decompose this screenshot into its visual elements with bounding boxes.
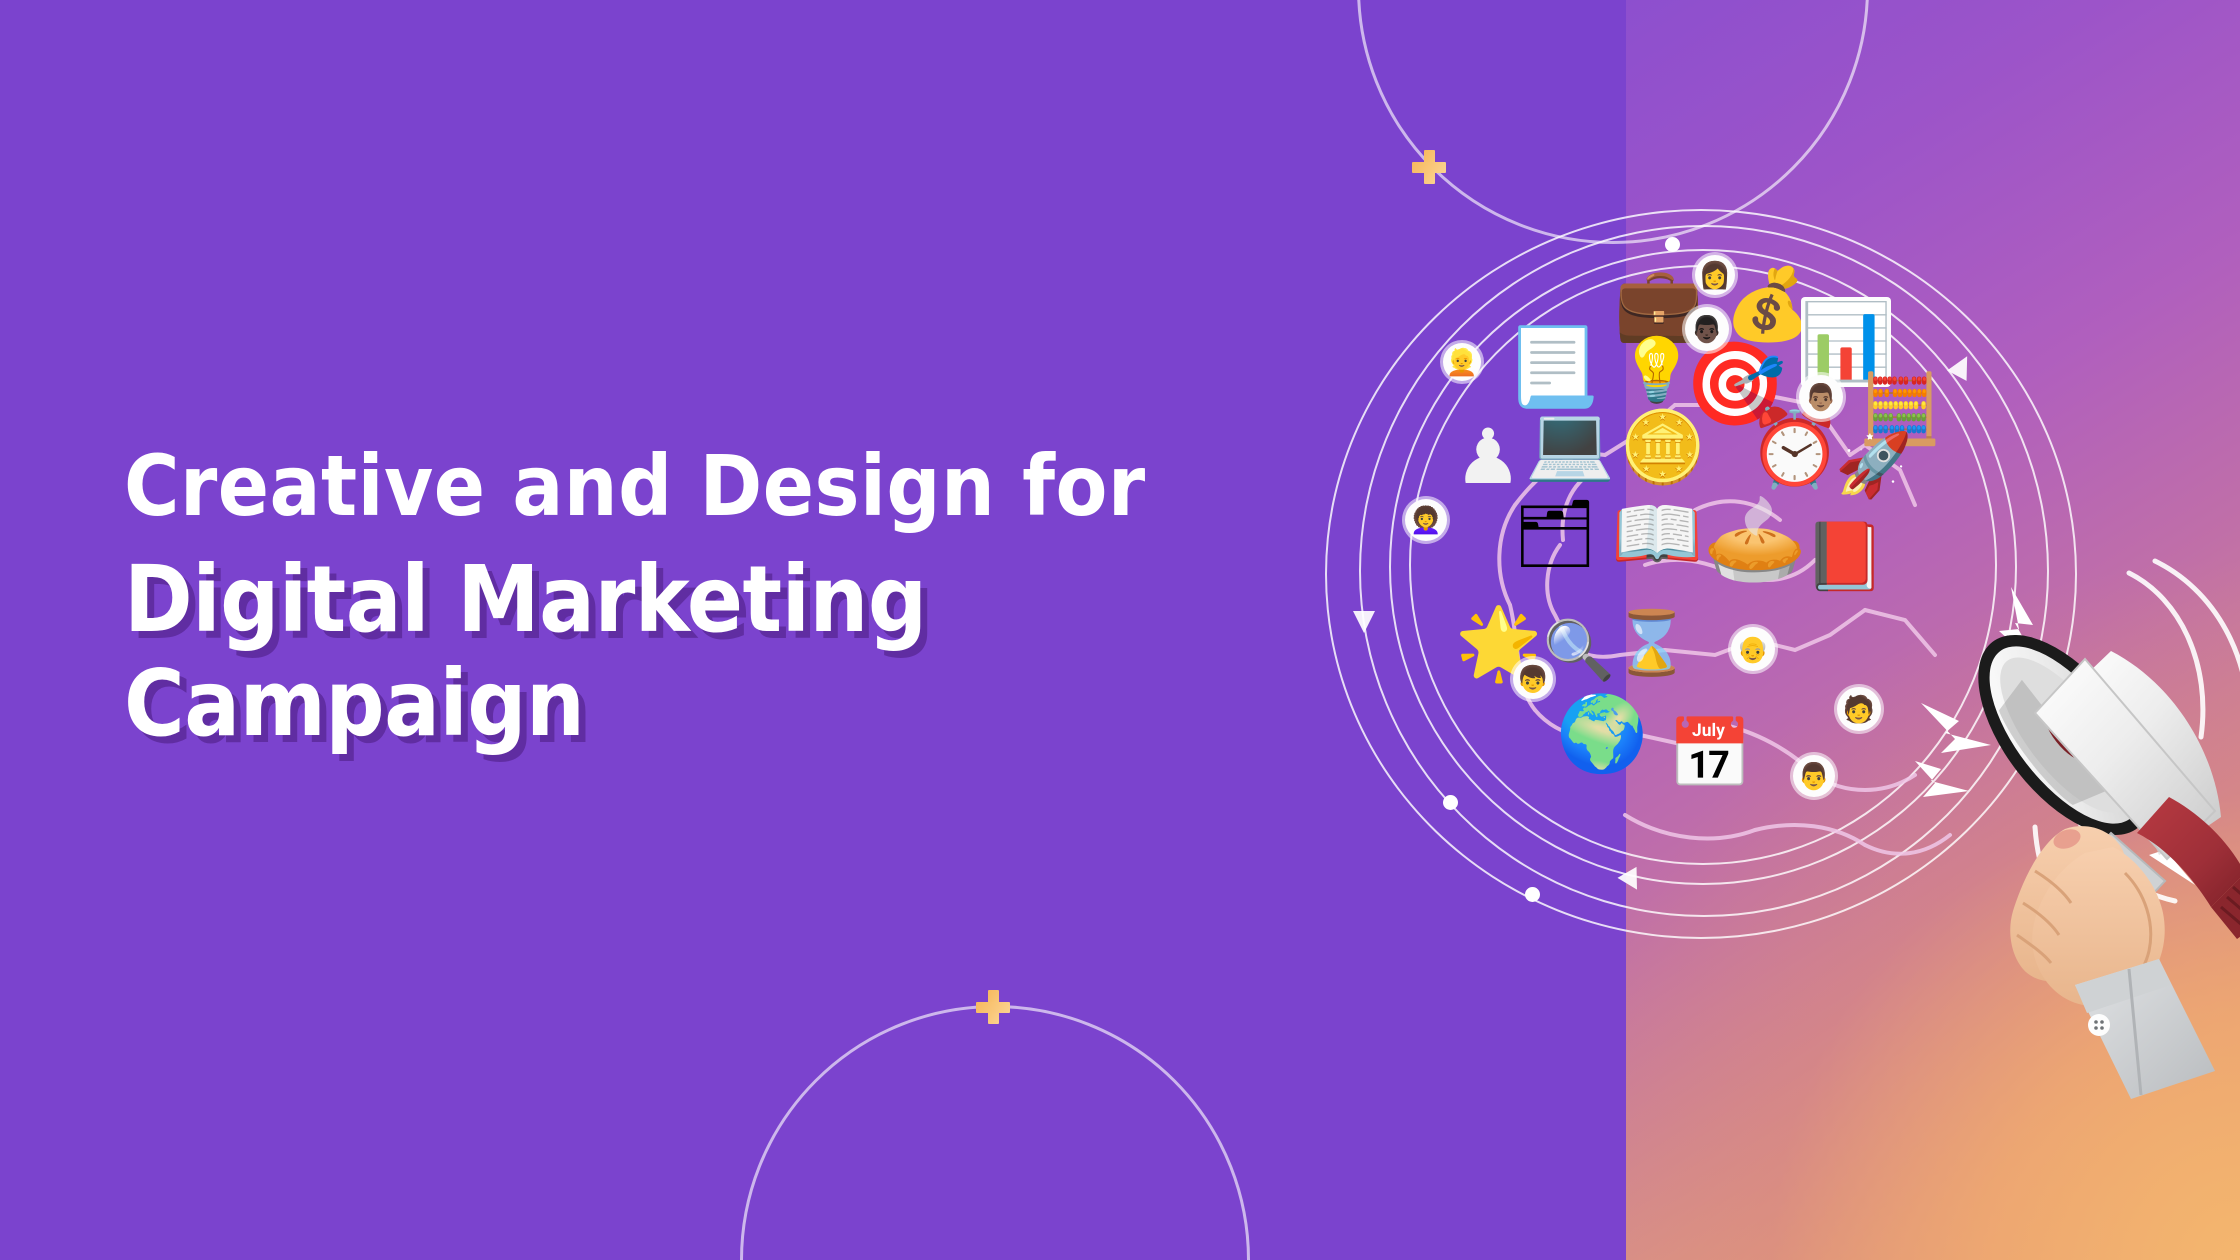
avatar-7-glyph: 🧑 — [1843, 694, 1875, 725]
certificate-icon: 📃 — [1513, 323, 1593, 413]
hourglass-icon: ⌛ — [1619, 601, 1685, 687]
avatar-3-glyph: 👱 — [1446, 347, 1478, 378]
avatar-8: 👦 — [1513, 659, 1553, 699]
laptop-icon: 💻 — [1523, 403, 1617, 483]
globe-glyph: 🌍 — [1556, 697, 1648, 771]
headline-line-1: Creative and Design for — [124, 430, 1444, 542]
money-bag-icon: 💰 — [1727, 263, 1809, 345]
documents-icon: 🗂 — [1513, 493, 1597, 573]
chess-pawn-glyph: ♟ — [1454, 420, 1522, 496]
avatar-7: 🧑 — [1837, 687, 1881, 731]
orbit-dot-1 — [1665, 237, 1680, 252]
pie-chart-glyph: 🥧 — [1703, 497, 1808, 581]
chess-pawn-icon: ♟ — [1457, 415, 1519, 501]
avatar-2: 👨🏿 — [1685, 307, 1729, 351]
avatar-1: 👩 — [1695, 255, 1735, 295]
rocket-glyph: 🚀 — [1835, 435, 1912, 497]
notebook-icon: 📕 — [1809, 515, 1881, 597]
page-title: Creative and Design for Digital Marketin… — [124, 430, 1444, 756]
plus-mark-bottom — [976, 990, 1010, 1024]
magnifier-glyph: 🔍 — [1543, 622, 1615, 680]
magnifier-icon: 🔍 — [1547, 613, 1611, 689]
hourglass-glyph: ⌛ — [1613, 613, 1690, 675]
certificate-glyph: 📃 — [1506, 330, 1601, 406]
headline-line-2: Digital Marketing — [124, 548, 1444, 652]
avatar-1-glyph: 👩 — [1699, 260, 1731, 291]
documents-glyph: 🗂 — [1513, 500, 1597, 566]
clock-glyph: ⏰ — [1748, 411, 1843, 487]
avatar-6: 👴 — [1731, 627, 1775, 671]
marketing-banner: Creative and Design for Digital Marketin… — [0, 0, 2240, 1260]
lightbulb-icon: 💡 — [1621, 333, 1693, 409]
dollar-coin-icon: 🪙 — [1623, 407, 1703, 487]
avatar-4: 👨🏽 — [1799, 375, 1843, 419]
pie-chart-icon: 🥧 — [1707, 491, 1803, 587]
globe-icon: 🌍 — [1559, 691, 1645, 777]
avatar-2-glyph: 👨🏿 — [1691, 314, 1723, 345]
notebook-glyph: 📕 — [1804, 523, 1886, 589]
orbit-arrow-left-icon — [1353, 611, 1375, 633]
laptop-glyph: 💻 — [1525, 407, 1615, 479]
open-book-glyph: 📖 — [1611, 497, 1703, 571]
avatar-9-glyph: 👨 — [1798, 761, 1830, 792]
plus-mark-top — [1412, 150, 1446, 184]
dollar-coin-glyph: 🪙 — [1619, 412, 1706, 482]
avatar-5-glyph: 👩‍🦱 — [1410, 505, 1442, 536]
rocket-icon: 🚀 — [1841, 423, 1907, 509]
digital-marketing-illustration: 💼 📃 💡 💰 📊 🎯 🧮 💻 🪙 ⏰ 🚀 ♟ 🗂 📖 🥧 📕 🌟 🔍 ⌛ 🌍 … — [1395, 255, 2055, 935]
avatar-8-glyph: 👦 — [1517, 664, 1549, 695]
calendar-glyph: 📅 — [1668, 720, 1753, 788]
calendar-icon: 📅 — [1667, 715, 1753, 793]
avatar-4-glyph: 👨🏽 — [1805, 382, 1837, 413]
avatar-5: 👩‍🦱 — [1405, 499, 1447, 541]
headline-line-3: Campaign — [124, 652, 1444, 756]
megaphone-in-hand — [1915, 555, 2240, 1115]
avatar-9: 👨 — [1793, 755, 1835, 797]
avatar-3: 👱 — [1443, 343, 1481, 381]
open-book-icon: 📖 — [1611, 495, 1703, 573]
avatar-6-glyph: 👴 — [1737, 634, 1769, 665]
money-bag-glyph: 💰 — [1724, 269, 1811, 339]
